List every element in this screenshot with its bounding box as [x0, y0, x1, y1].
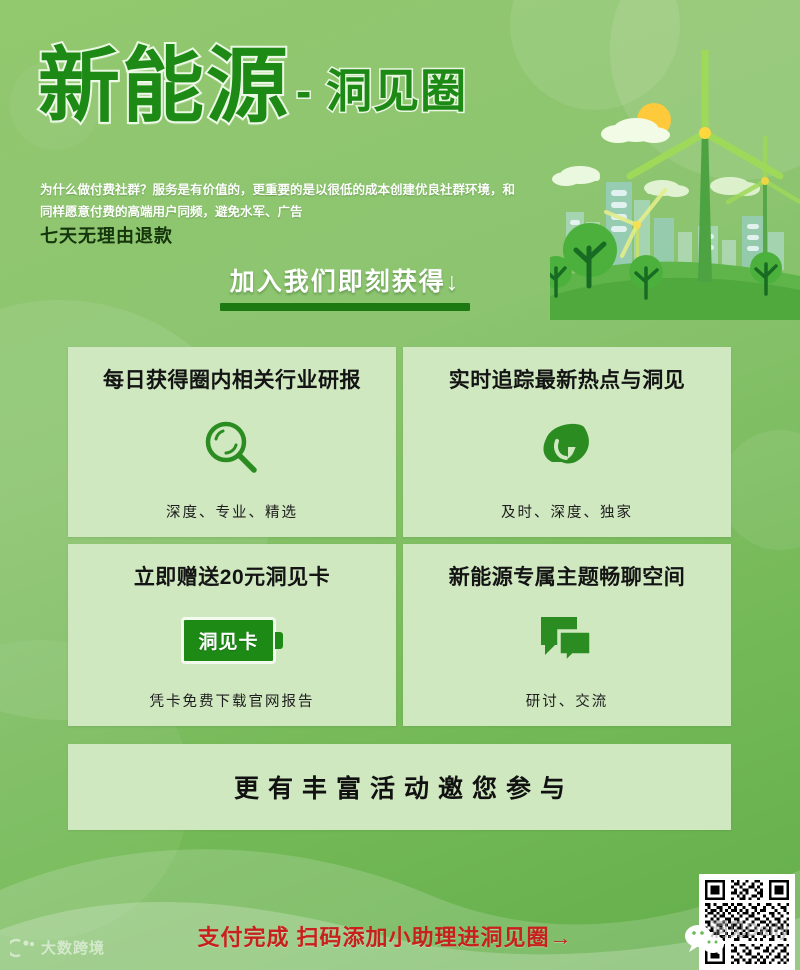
brand-watermark: 大数跨境 [10, 937, 105, 958]
page-title: 新能源 - 洞见圈 [38, 48, 467, 126]
cloud-icon [644, 180, 689, 197]
brand-logo-icon [10, 938, 36, 958]
benefit-card-grid: 每日获得圈内相关行业研报 深度、专业、精选 实时追踪最新热点与洞见 [68, 347, 731, 726]
cloud-icon [601, 118, 670, 143]
wind-turbine-icon [606, 190, 665, 284]
benefit-card-icon [201, 394, 263, 501]
tree-icon [629, 255, 663, 298]
benefit-card[interactable]: 每日获得圈内相关行业研报 深度、专业、精选 [68, 347, 396, 537]
tree-icon [750, 252, 782, 294]
wind-turbine-icon [728, 138, 800, 282]
activities-banner-label: 更有丰富活动邀您参与 [225, 769, 574, 805]
cloud-icon [552, 166, 600, 186]
tree-icon [563, 223, 617, 286]
footer-cta: 支付完成 扫码添加小助理进洞见圈→ [150, 920, 620, 952]
battery-card-label: 洞见卡 [198, 632, 258, 653]
benefit-card-icon [534, 394, 600, 501]
join-cta: 加入我们即刻获得↓ [200, 262, 490, 311]
benefit-card-title: 立即赠送20元洞见卡 [134, 561, 330, 591]
join-cta-underline [220, 303, 470, 311]
benefit-card-note: 深度、专业、精选 [166, 501, 298, 537]
bg-circle-decor [720, 430, 800, 550]
cloud-icon [710, 177, 760, 196]
benefit-card-note: 凭卡免费下载官网报告 [150, 690, 315, 726]
benefit-card-title: 实时追踪最新热点与洞见 [449, 364, 686, 394]
bg-circle-decor [510, 0, 680, 110]
wind-turbine-icon [630, 50, 780, 282]
sun-icon [637, 103, 671, 137]
qr-section: 洞见Daily [683, 874, 795, 970]
chat-bubbles-icon [535, 611, 599, 671]
join-cta-label: 加入我们即刻获得↓ [200, 262, 490, 298]
city-skyline [566, 182, 784, 270]
benefit-card-icon [535, 591, 599, 690]
eco-illustration [550, 50, 800, 320]
benefit-card-note: 及时、深度、独家 [501, 501, 633, 537]
qr-watermark: 洞见Daily [710, 916, 789, 942]
battery-tip [275, 632, 283, 649]
battery-body: 洞见卡 [181, 617, 275, 664]
benefit-card[interactable]: 新能源专属主题畅聊空间 研讨、交流 [403, 544, 731, 726]
magnifier-icon [201, 417, 263, 479]
title-main: 新能源 [38, 48, 290, 126]
benefit-card[interactable]: 立即赠送20元洞见卡 洞见卡 凭卡免费下载官网报告 [68, 544, 396, 726]
activities-banner[interactable]: 更有丰富活动邀您参与 [68, 744, 731, 830]
benefit-card[interactable]: 实时追踪最新热点与洞见 及时、深度、独家 [403, 347, 731, 537]
battery-card-icon: 洞见卡 [181, 617, 282, 664]
brand-watermark-label: 大数跨境 [41, 937, 105, 958]
benefit-card-title: 新能源专属主题畅聊空间 [449, 561, 686, 591]
benefit-card-title: 每日获得圈内相关行业研报 [103, 364, 361, 394]
benefit-card-note: 研讨、交流 [526, 690, 609, 726]
tree-icon [550, 256, 572, 296]
leaf-eye-icon [534, 417, 600, 479]
title-sub: - 洞见圈 [296, 68, 467, 114]
benefit-card-icon: 洞见卡 [181, 591, 282, 690]
bg-circle-decor [610, 0, 800, 180]
poster-root: 新能源 - 洞见圈 为什么做付费社群？服务是有价值的，更重要的是以很低的成本创建… [0, 0, 800, 970]
refund-policy: 七天无理由退款 [40, 222, 173, 248]
lead-paragraph: 为什么做付费社群？服务是有价值的，更重要的是以很低的成本创建优良社群环境，和同样… [40, 180, 520, 224]
